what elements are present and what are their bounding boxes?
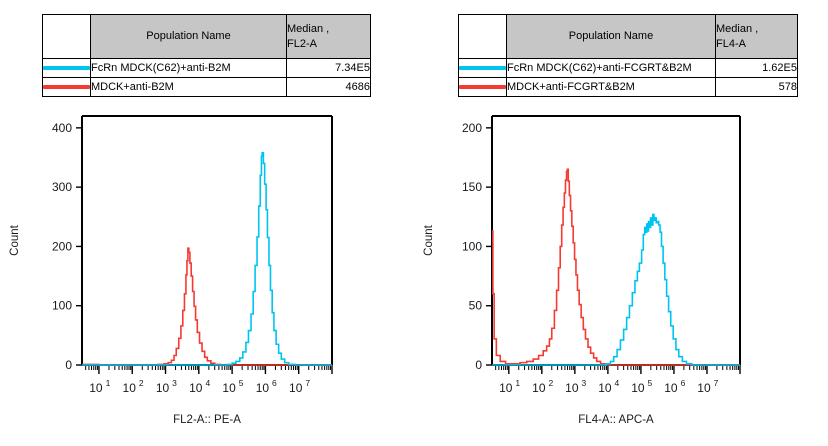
legend-row[interactable]: MDCK+anti-B2M 4686 [43,78,371,97]
histogram-svg-fl4: 050100150200Count101102103104105106107FL… [414,105,828,446]
legend-header-row: Population Name Median , FL2-A [43,15,371,59]
svg-text:200: 200 [462,121,482,135]
legend-population-name: MDCK+anti-B2M [91,78,287,97]
svg-text:100: 100 [462,239,482,253]
color-swatch-cyan [43,66,90,70]
svg-text:10: 10 [598,381,612,395]
svg-text:10: 10 [565,381,579,395]
legend-population-name: FcRn MDCK(C62)+anti-FCGRT&B2M [507,59,716,78]
svg-text:50: 50 [469,299,483,313]
svg-text:3: 3 [581,378,586,388]
svg-text:Count: Count [9,224,21,255]
svg-text:10: 10 [631,381,645,395]
legend-row[interactable]: MDCK+anti-FCGRT&B2M 578 [459,78,798,97]
legend-header-swatch [43,15,91,59]
legend-header-row: Population Name Median , FL4-A [459,15,798,59]
legend-header-population-name: Population Name [91,15,287,59]
panel-fl4-apc: Population Name Median , FL4-A FcRn MDCK… [414,0,828,446]
color-swatch-red [459,85,506,89]
svg-text:100: 100 [52,299,72,313]
color-swatch-red [43,85,90,89]
legend-row[interactable]: FcRn MDCK(C62)+anti-B2M 7.34E5 [43,59,371,78]
svg-text:0: 0 [475,358,482,372]
svg-text:2: 2 [139,378,144,388]
color-swatch-cyan [459,66,506,70]
legend-median-value: 7.34E5 [287,59,371,78]
svg-text:10: 10 [289,381,303,395]
svg-text:10: 10 [222,381,236,395]
legend-header-swatch [459,15,507,59]
legend-median-value: 1.62E5 [716,59,798,78]
svg-text:6: 6 [272,378,277,388]
legend-median-value: 4686 [287,78,371,97]
svg-text:10: 10 [256,381,270,395]
legend-header-median: Median , FL4-A [716,15,798,59]
legend-median-value: 578 [716,78,798,97]
svg-text:10: 10 [697,381,711,395]
histogram-svg-fl2: 0100200300400Count101102103104105106107F… [0,105,414,446]
svg-text:7: 7 [714,378,719,388]
svg-text:10: 10 [189,381,203,395]
svg-text:1: 1 [106,378,111,388]
legend-swatch-cell [459,59,507,78]
histogram-plot-fl4: 050100150200Count101102103104105106107FL… [414,105,828,446]
legend-header-population-name: Population Name [507,15,716,59]
svg-text:7: 7 [305,378,310,388]
legend-row[interactable]: FcRn MDCK(C62)+anti-FCGRT&B2M 1.62E5 [459,59,798,78]
svg-text:10: 10 [664,381,678,395]
svg-text:3: 3 [172,378,177,388]
svg-text:10: 10 [532,381,546,395]
svg-text:150: 150 [462,180,482,194]
svg-text:10: 10 [123,381,137,395]
svg-text:10: 10 [156,381,170,395]
svg-text:Count: Count [423,224,435,255]
svg-text:200: 200 [52,239,72,253]
panel-fl2-pe: Population Name Median , FL2-A FcRn MDCK… [0,0,414,446]
svg-text:300: 300 [52,180,72,194]
svg-text:5: 5 [239,378,244,388]
svg-text:4: 4 [615,378,620,388]
legend-header-median: Median , FL2-A [287,15,371,59]
svg-text:FL2-A:: PE-A: FL2-A:: PE-A [173,414,241,426]
flow-cytometry-figure: Population Name Median , FL2-A FcRn MDCK… [0,0,828,446]
svg-text:FL4-A:: APC-A: FL4-A:: APC-A [578,414,654,426]
svg-text:1: 1 [515,378,520,388]
svg-text:10: 10 [499,381,513,395]
legend-swatch-cell [43,78,91,97]
svg-text:5: 5 [648,378,653,388]
legend-population-name: FcRn MDCK(C62)+anti-B2M [91,59,287,78]
svg-text:10: 10 [89,381,103,395]
svg-text:2: 2 [548,378,553,388]
svg-text:6: 6 [681,378,686,388]
legend-population-name: MDCK+anti-FCGRT&B2M [507,78,716,97]
legend-table-fl2: Population Name Median , FL2-A FcRn MDCK… [42,14,371,97]
legend-table-fl4: Population Name Median , FL4-A FcRn MDCK… [458,14,798,97]
legend-swatch-cell [459,78,507,97]
svg-text:0: 0 [65,358,72,372]
histogram-plot-fl2: 0100200300400Count101102103104105106107F… [0,105,414,446]
svg-text:4: 4 [205,378,210,388]
legend-swatch-cell [43,59,91,78]
svg-text:400: 400 [52,121,72,135]
